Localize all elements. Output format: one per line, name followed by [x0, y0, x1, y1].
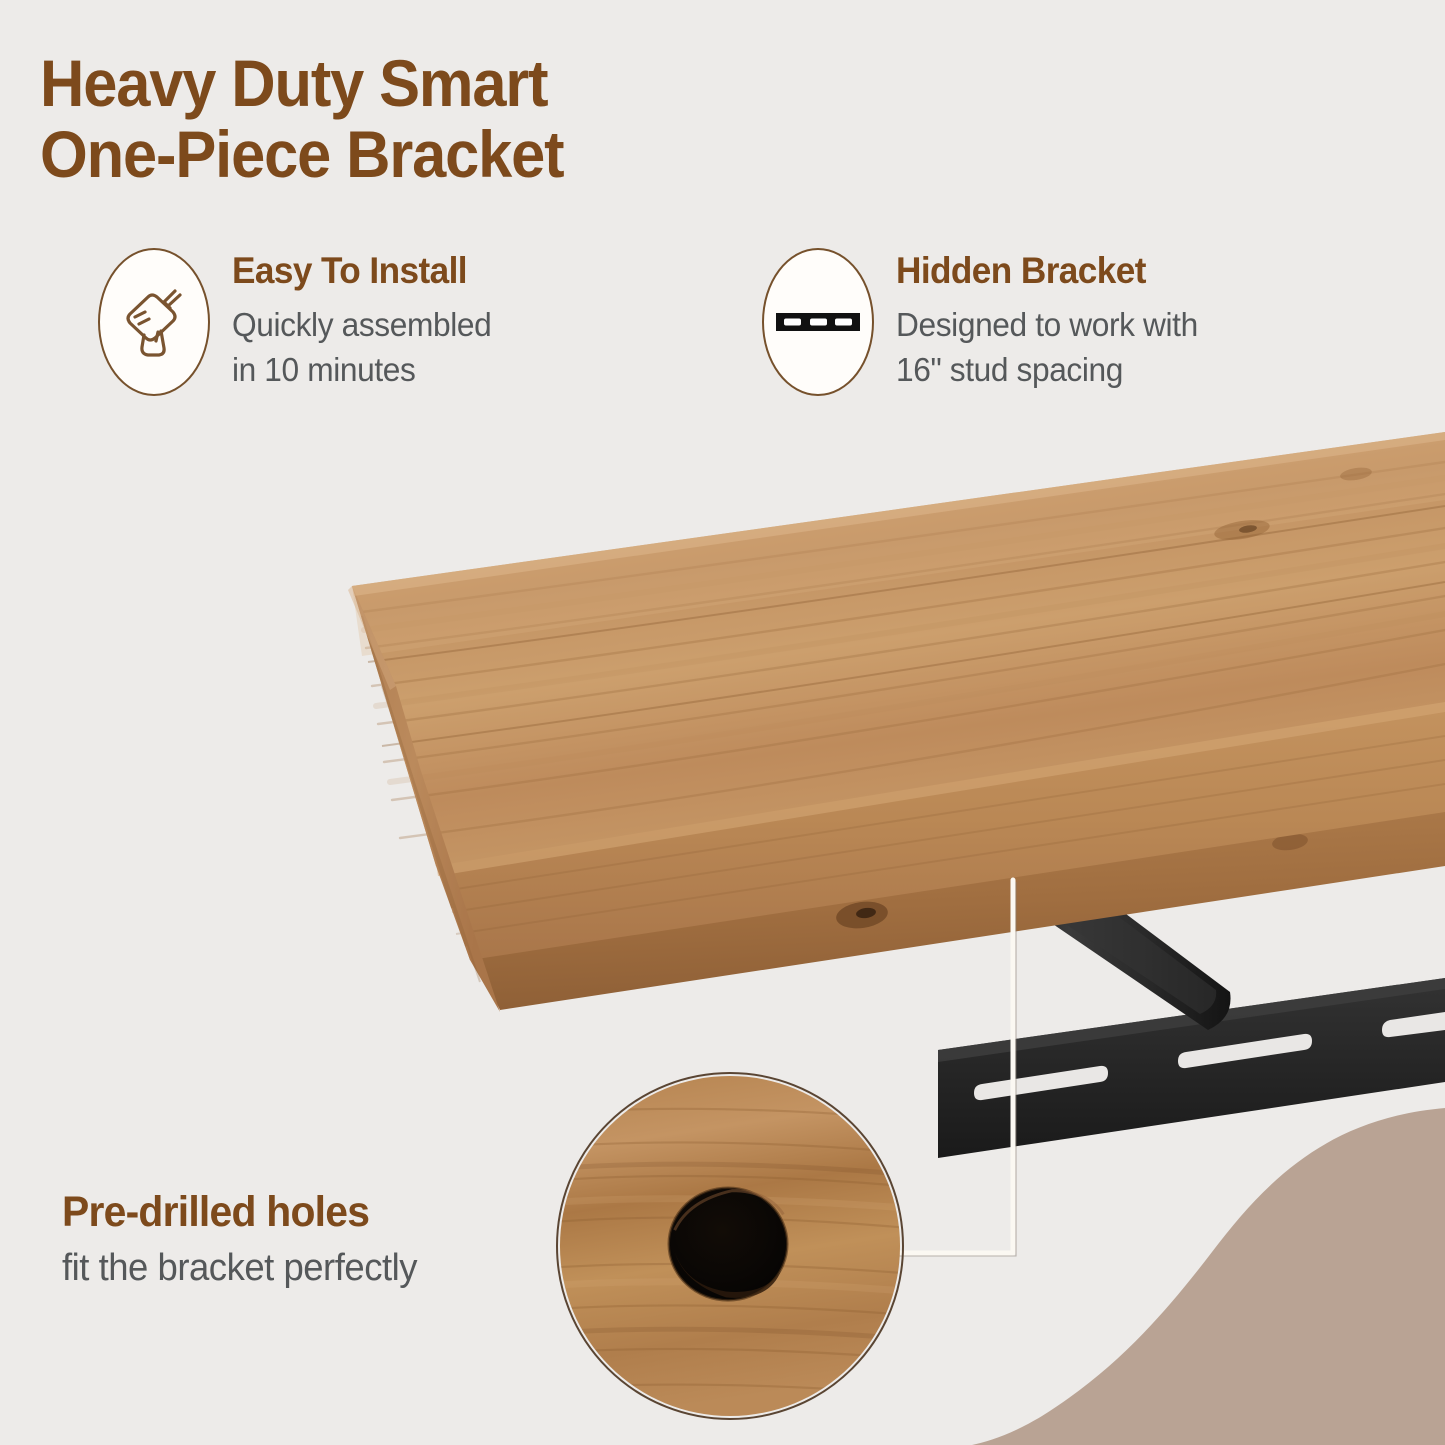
feature-title: Hidden Bracket	[896, 252, 1195, 291]
callout-desc: fit the bracket perfectly	[62, 1247, 417, 1290]
feature-hidden-bracket: Hidden Bracket Designed to work with 16"…	[762, 248, 1210, 396]
feature-desc-line-2: in 10 minutes	[232, 348, 491, 392]
headline-line-1: Heavy Duty Smart	[40, 48, 877, 119]
bracket-bar-icon-badge	[762, 248, 874, 396]
feature-title: Easy To Install	[232, 252, 489, 291]
page-title: Heavy Duty Smart One-Piece Bracket	[40, 48, 877, 191]
callout-title: Pre-drilled holes	[62, 1190, 413, 1235]
headline-line-2: One-Piece Bracket	[40, 119, 877, 190]
drill-icon-badge	[98, 248, 210, 396]
bracket-bar-icon	[775, 309, 861, 335]
feature-easy-to-install: Easy To Install Quickly assembled in 10 …	[98, 248, 502, 396]
feature-desc-line-2: 16" stud spacing	[896, 348, 1198, 392]
predrilled-holes-callout: Pre-drilled holes fit the bracket perfec…	[62, 1190, 432, 1290]
feature-desc-line-1: Quickly assembled	[232, 303, 491, 347]
feature-text-block: Easy To Install Quickly assembled in 10 …	[232, 248, 502, 392]
predrilled-hole-magnifier	[556, 1072, 904, 1420]
drill-icon	[118, 284, 190, 360]
feature-desc-line-1: Designed to work with	[896, 303, 1198, 347]
decorative-blob	[972, 1108, 1445, 1445]
magnifier-content	[558, 1074, 902, 1418]
feature-text-block: Hidden Bracket Designed to work with 16"…	[896, 248, 1210, 392]
product-marketing-image: Heavy Duty Smart One-Piece Bracket Easy …	[0, 0, 1445, 1445]
